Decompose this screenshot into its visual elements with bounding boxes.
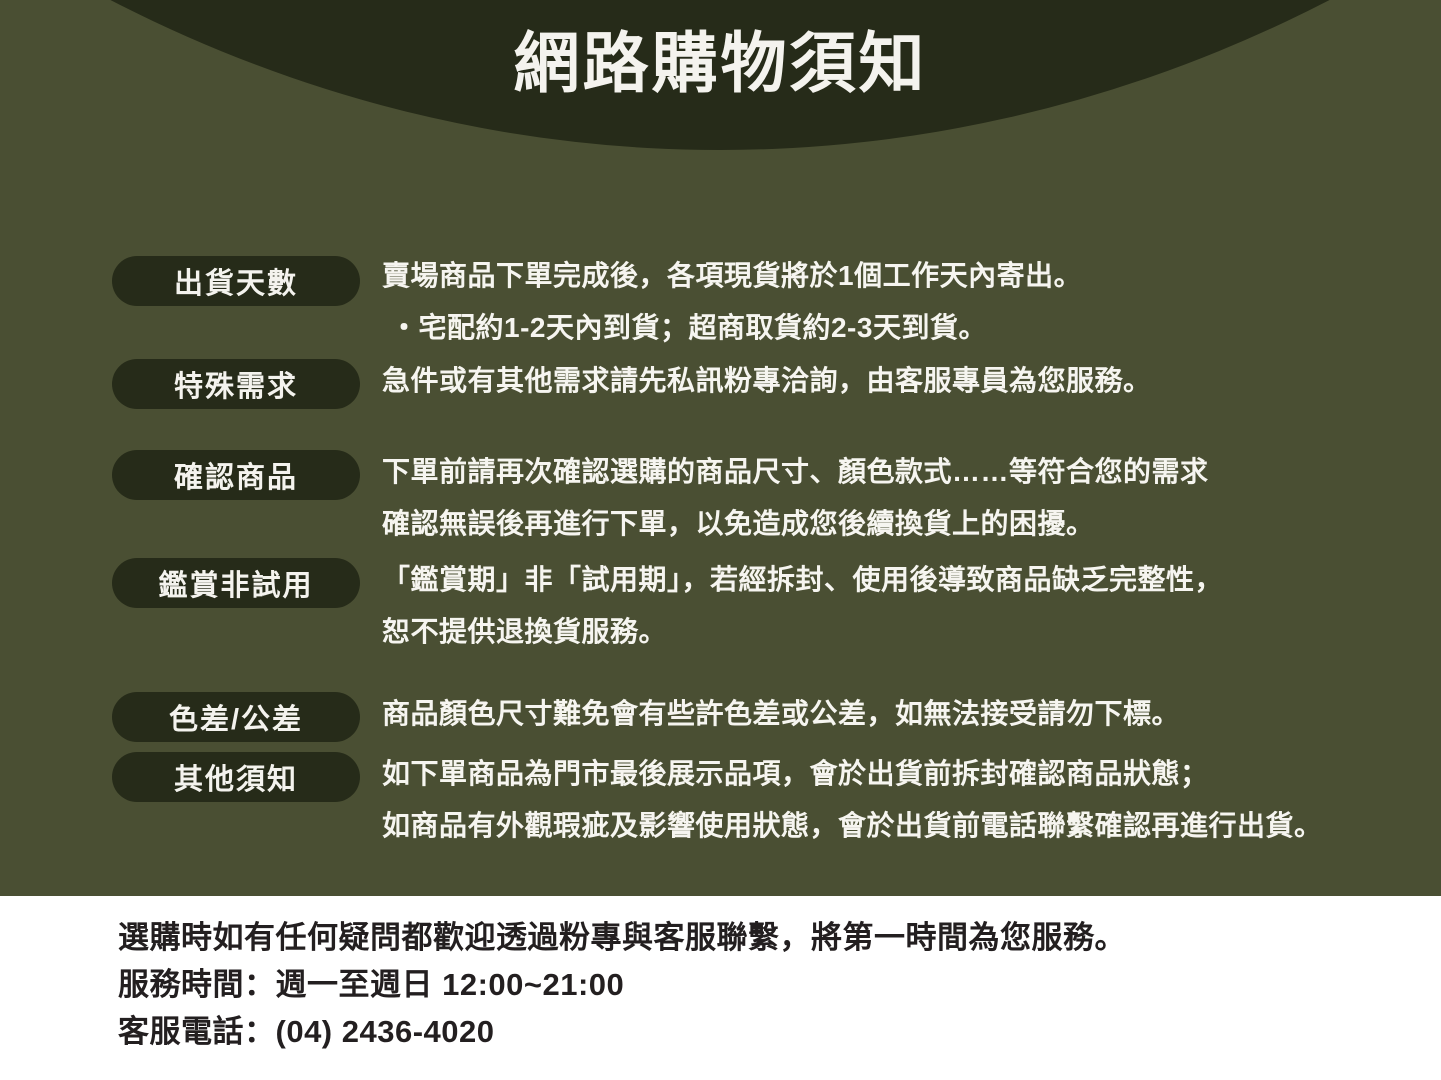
footer-line-service-intro: 選購時如有任何疑問都歡迎透過粉專與客服聯繫，將第一時間為您服務。 <box>118 914 1126 961</box>
section-body-special-request: 急件或有其他需求請先私訊粉專洽詢，由客服專員為您服務。 <box>382 355 1412 407</box>
section-line: 商品顏色尺寸難免會有些許色差或公差，如無法接受請勿下標。 <box>382 688 1412 740</box>
section-line: 賣場商品下單完成後，各項現貨將於1個工作天內寄出。 <box>382 250 1412 302</box>
section-body-shipping-days: 賣場商品下單完成後，各項現貨將於1個工作天內寄出。 ・宅配約1-2天內到貨；超商… <box>382 250 1412 354</box>
section-line: 如下單商品為門市最後展示品項，會於出貨前拆封確認商品狀態； <box>382 748 1412 800</box>
notice-section-list: 出貨天數 賣場商品下單完成後，各項現貨將於1個工作天內寄出。 ・宅配約1-2天內… <box>0 0 1441 896</box>
section-line: 下單前請再次確認選購的商品尺寸、顏色款式……等符合您的需求 <box>382 446 1412 498</box>
section-body-confirm-product: 下單前請再次確認選購的商品尺寸、顏色款式……等符合您的需求 確認無誤後再進行下單… <box>382 446 1412 550</box>
footer-line-service-phone: 客服電話：(04) 2436-4020 <box>118 1008 1126 1055</box>
section-badge-shipping-days: 出貨天數 <box>112 256 360 306</box>
section-body-other-notices: 如下單商品為門市最後展示品項，會於出貨前拆封確認商品狀態； 如商品有外觀瑕疵及影… <box>382 748 1412 852</box>
section-line: 如商品有外觀瑕疵及影響使用狀態，會於出貨前電話聯繫確認再進行出貨。 <box>382 800 1412 852</box>
footer-contact-block: 選購時如有任何疑問都歡迎透過粉專與客服聯繫，將第一時間為您服務。 服務時間：週一… <box>0 896 1441 1080</box>
section-badge-confirm-product: 確認商品 <box>112 450 360 500</box>
section-body-inspection-not-trial: 「鑑賞期」非「試用期」，若經拆封、使用後導致商品缺乏完整性， 恕不提供退換貨服務… <box>382 554 1412 658</box>
section-badge-inspection-not-trial: 鑑賞非試用 <box>112 558 360 608</box>
section-badge-color-tolerance: 色差/公差 <box>112 692 360 742</box>
section-badge-special-request: 特殊需求 <box>112 359 360 409</box>
footer-text: 選購時如有任何疑問都歡迎透過粉專與客服聯繫，將第一時間為您服務。 服務時間：週一… <box>118 914 1126 1055</box>
section-line: ・宅配約1-2天內到貨；超商取貨約2-3天到貨。 <box>382 302 1412 354</box>
info-graphic-page: 網路購物須知 出貨天數 賣場商品下單完成後，各項現貨將於1個工作天內寄出。 ・宅… <box>0 0 1441 1080</box>
footer-line-service-hours: 服務時間：週一至週日 12:00~21:00 <box>118 961 1126 1008</box>
section-line: 急件或有其他需求請先私訊粉專洽詢，由客服專員為您服務。 <box>382 355 1412 407</box>
section-line: 恕不提供退換貨服務。 <box>382 606 1412 658</box>
section-badge-other-notices: 其他須知 <box>112 752 360 802</box>
section-body-color-tolerance: 商品顏色尺寸難免會有些許色差或公差，如無法接受請勿下標。 <box>382 688 1412 740</box>
section-line: 「鑑賞期」非「試用期」，若經拆封、使用後導致商品缺乏完整性， <box>382 554 1412 606</box>
section-line: 確認無誤後再進行下單，以免造成您後續換貨上的困擾。 <box>382 498 1412 550</box>
